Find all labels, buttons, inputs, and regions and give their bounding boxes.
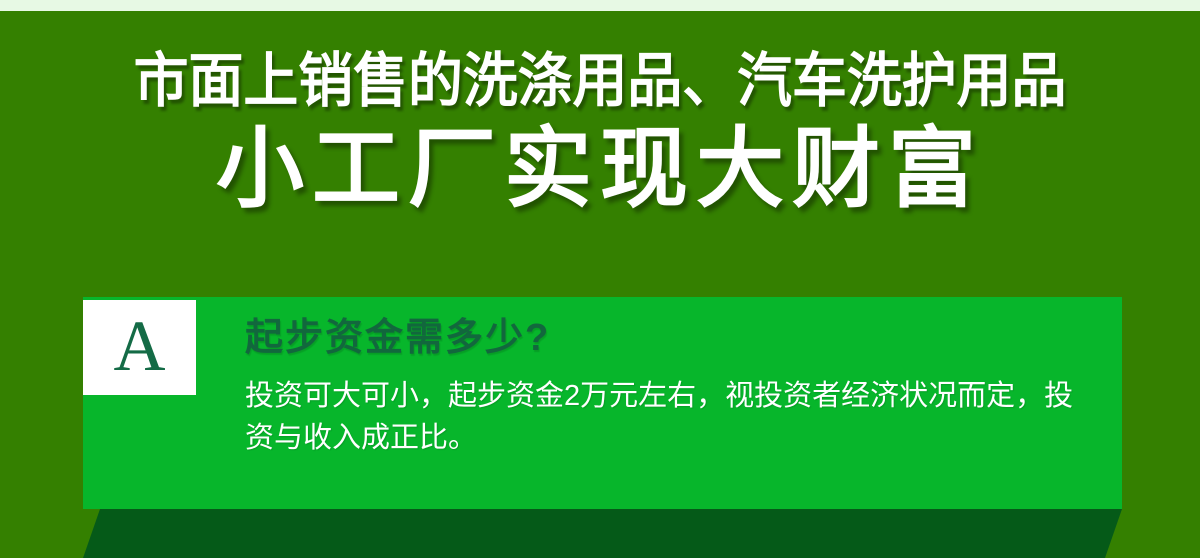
poster-canvas: 市面上销售的洗涤用品、汽车洗护用品 小工厂实现大财富 A 起步资金需多少? 投资… xyxy=(0,0,1200,558)
answer-badge: A xyxy=(83,300,196,395)
answer-badge-letter: A xyxy=(114,310,166,382)
card-shadow-band xyxy=(83,509,1122,558)
answer-card: A 起步资金需多少? 投资可大可小，起步资金2万元左右，视投资者经济状况而定，投… xyxy=(83,297,1122,509)
answer-body-text: 投资可大可小，起步资金2万元左右，视投资者经济状况而定，投资与收入成正比。 xyxy=(245,375,1075,459)
answer-card-body: 起步资金需多少? 投资可大可小，起步资金2万元左右，视投资者经济状况而定，投资与… xyxy=(245,319,1095,459)
headline-line-1: 市面上销售的洗涤用品、汽车洗护用品 xyxy=(42,52,1158,111)
headline-line-2: 小工厂实现大财富 xyxy=(0,125,1200,213)
headline-block: 市面上销售的洗涤用品、汽车洗护用品 小工厂实现大财富 xyxy=(0,52,1200,213)
top-accent-strip xyxy=(0,0,1200,11)
question-title: 起步资金需多少? xyxy=(245,319,1095,359)
